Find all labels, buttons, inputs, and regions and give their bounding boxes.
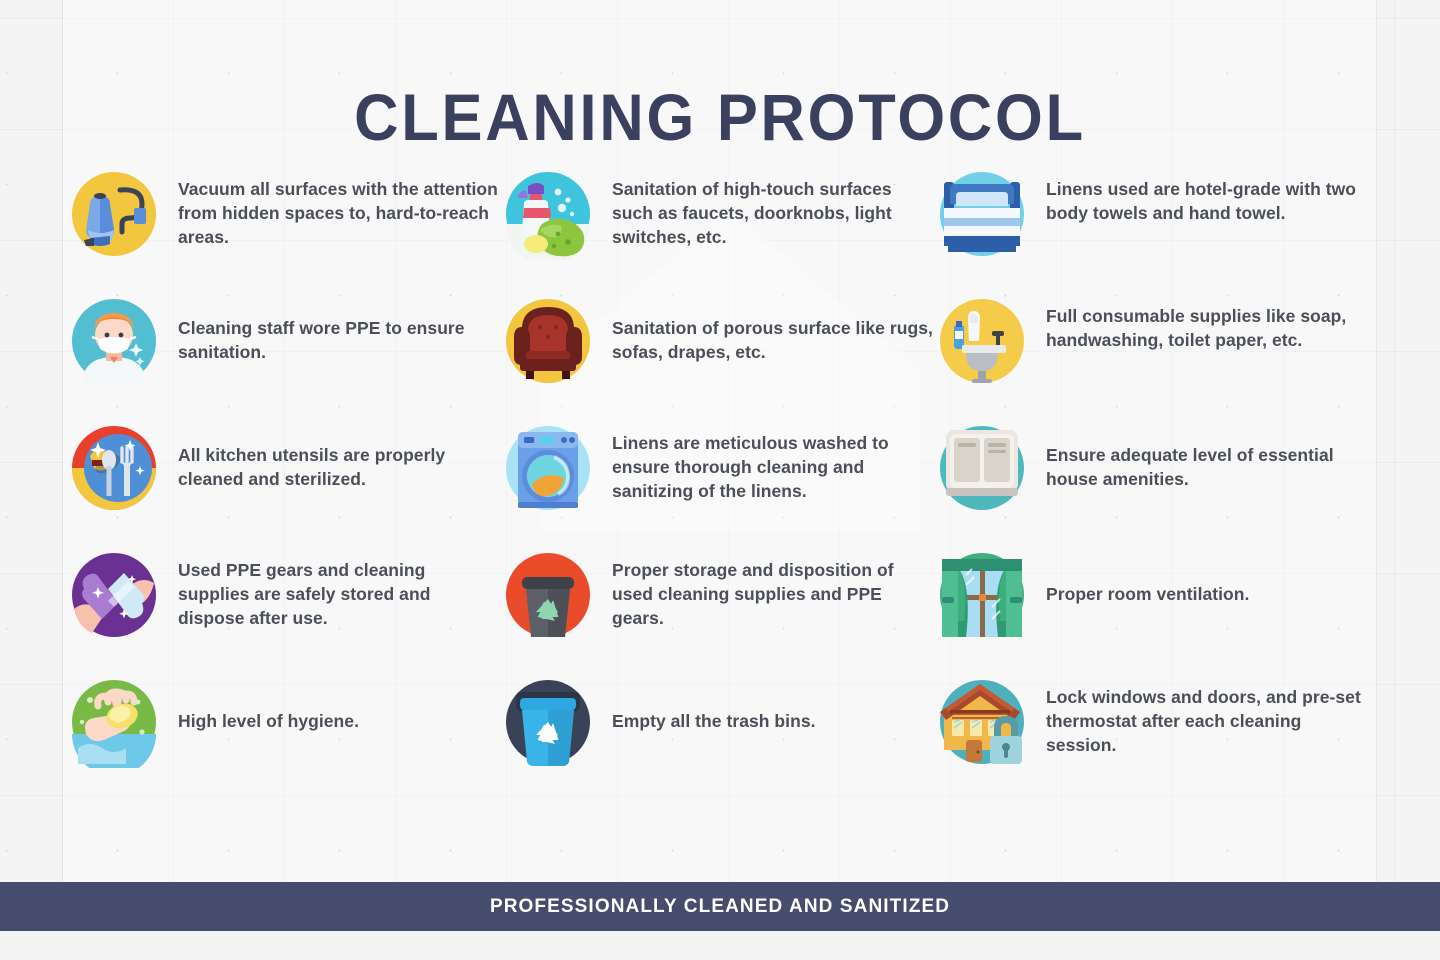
list-item: Sanitation of porous surface like rugs, … [499, 295, 936, 422]
list-item-label: Proper storage and disposition of used c… [612, 549, 936, 631]
list-item: Proper storage and disposition of used c… [499, 549, 936, 676]
list-item-label: Used PPE gears and cleaning supplies are… [178, 549, 499, 631]
list-item: Used PPE gears and cleaning supplies are… [62, 549, 499, 676]
list-item-label: Sanitation of porous surface like rugs, … [612, 295, 936, 364]
list-item-label: Linens used are hotel-grade with two bod… [1046, 168, 1373, 225]
protocol-column-1: Vacuum all surfaces with the attention f… [62, 168, 499, 803]
below-footer-strip [0, 931, 1440, 960]
list-item: Cleaning staff wore PPE to ensure sanita… [62, 295, 499, 422]
list-item-label: Full consumable supplies like soap, hand… [1046, 295, 1373, 352]
list-item: Sanitation of high-touch surfaces such a… [499, 168, 936, 295]
page-title: CLEANING PROTOCOL [50, 82, 1389, 152]
spray-bottle-sponge-icon [502, 168, 594, 260]
handwashing-hygiene-icon [68, 676, 160, 768]
kitchen-utensils-icon [68, 422, 160, 514]
trash-bin-blue-icon [502, 676, 594, 768]
list-item: Linens used are hotel-grade with two bod… [936, 168, 1373, 295]
washing-machine-icon [502, 422, 594, 514]
list-item: Vacuum all surfaces with the attention f… [62, 168, 499, 295]
list-item: Lock windows and doors, and pre-set ther… [936, 676, 1373, 803]
house-lock-icon [936, 676, 1028, 768]
list-item: Empty all the trash bins. [499, 676, 936, 803]
list-item-label: Vacuum all surfaces with the attention f… [178, 168, 499, 250]
footer-banner: PROFESSIONALLY CLEANED AND SANITIZED [0, 882, 1440, 931]
bed-linens-icon [936, 168, 1028, 260]
vacuum-cleaner-icon [68, 168, 160, 260]
infographic-page: CLEANING PROTOCOL [0, 0, 1440, 960]
protocol-columns: Vacuum all surfaces with the attention f… [62, 168, 1375, 803]
list-item: Linens are meticulous washed to ensure t… [499, 422, 936, 549]
window-curtains-icon [936, 549, 1028, 641]
armchair-sofa-icon [502, 295, 594, 387]
list-item-label: Linens are meticulous washed to ensure t… [612, 422, 936, 504]
list-item-label: Sanitation of high-touch surfaces such a… [612, 168, 936, 250]
trash-recycle-red-icon [502, 549, 594, 641]
protocol-column-2: Sanitation of high-touch surfaces such a… [499, 168, 936, 803]
list-item-label: Proper room ventilation. [1046, 549, 1249, 606]
list-item-label: Empty all the trash bins. [612, 676, 816, 733]
list-item: Full consumable supplies like soap, hand… [936, 295, 1373, 422]
protocol-column-3: Linens used are hotel-grade with two bod… [936, 168, 1373, 803]
ppe-gloves-icon [68, 549, 160, 641]
list-item-label: Cleaning staff wore PPE to ensure sanita… [178, 295, 499, 364]
footer-banner-text: PROFESSIONALLY CLEANED AND SANITIZED [490, 896, 950, 918]
list-item-label: All kitchen utensils are properly cleane… [178, 422, 499, 491]
list-item: High level of hygiene. [62, 676, 499, 803]
staff-ppe-mask-icon [68, 295, 160, 387]
list-item-label: Ensure adequate level of essential house… [1046, 422, 1373, 491]
list-item-label: High level of hygiene. [178, 676, 359, 733]
list-item-label: Lock windows and doors, and pre-set ther… [1046, 676, 1373, 758]
list-item: All kitchen utensils are properly cleane… [62, 422, 499, 549]
house-amenities-tray-icon [936, 422, 1028, 514]
list-item: Proper room ventilation. [936, 549, 1373, 676]
bathroom-sink-supplies-icon [936, 295, 1028, 387]
list-item: Ensure adequate level of essential house… [936, 422, 1373, 549]
